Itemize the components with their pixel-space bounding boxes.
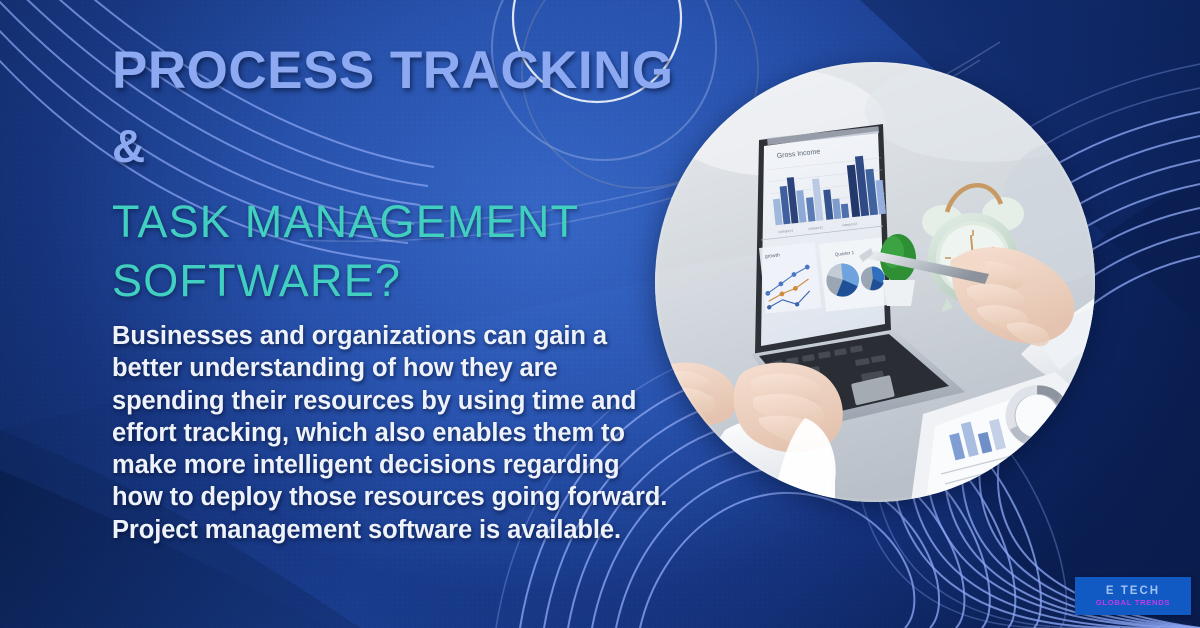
hero-photo-circle: Gross Income [655, 62, 1095, 502]
body-paragraph: Businesses and organizations can gain a … [112, 320, 672, 546]
hero-photo: Gross Income [655, 62, 1095, 502]
headline-secondary-line1: TASK MANAGEMENT [112, 193, 712, 252]
headline-ampersand: & [112, 123, 712, 169]
screen-pie-charts: Quarter 1 [819, 238, 888, 312]
promo-banner: Gross Income [0, 0, 1200, 628]
screen-line-chart: growth [759, 242, 822, 313]
headline-secondary-line2: SOFTWARE? [112, 252, 712, 311]
workspace-photo-illustration: Gross Income [655, 62, 1095, 502]
headline-secondary: TASK MANAGEMENT SOFTWARE? [112, 193, 712, 310]
text-content: PROCESS TRACKING & TASK MANAGEMENT SOFTW… [112, 44, 712, 546]
brand-tagline: GLOBAL TRENDS [1096, 598, 1170, 607]
headline-primary: PROCESS TRACKING [112, 44, 712, 97]
brand-name: E TECH [1106, 585, 1160, 598]
desk-plant [880, 234, 916, 306]
brand-logo-badge[interactable]: E TECH GLOBAL TRENDS [1075, 577, 1191, 615]
